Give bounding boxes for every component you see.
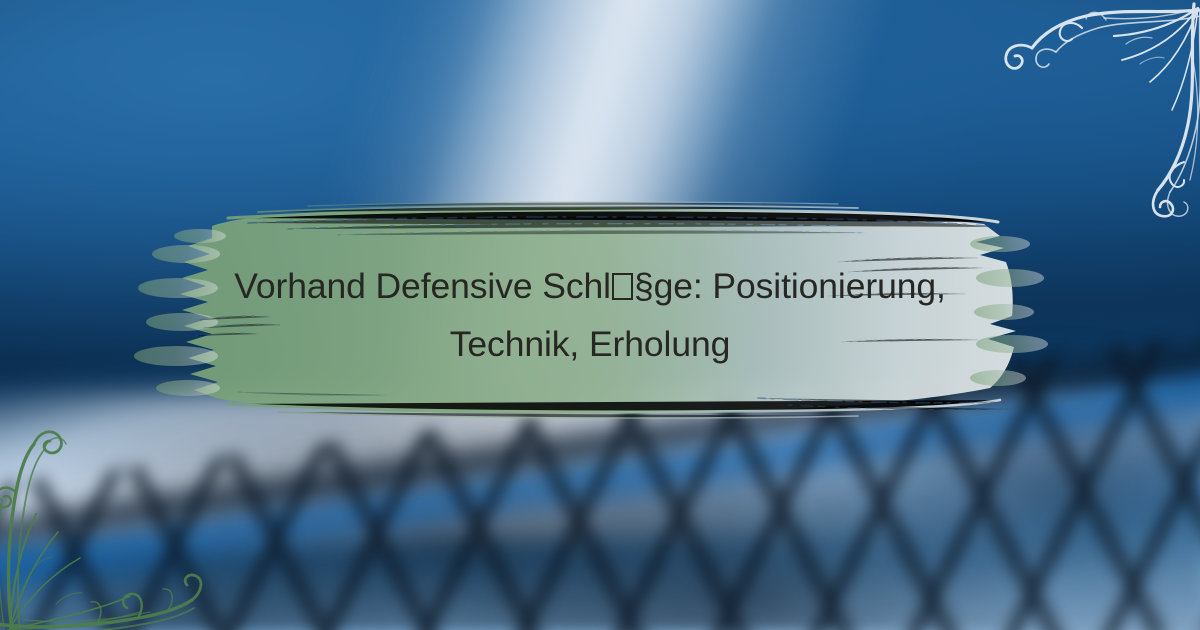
title-card: Vorhand Defensive Schl§ge: Positionierun… [0,0,1200,630]
title-line-1-prefix: Vorhand Defensive Schl [234,266,611,306]
tofu-glyph-icon [612,273,633,301]
title-line-1: Vorhand Defensive Schl§ge: Positionierun… [234,263,946,309]
title-line-1-suffix: §ge: Positionierung, [634,266,946,306]
title-line-2: Technik, Erholung [450,321,731,367]
card-title: Vorhand Defensive Schl§ge: Positionierun… [150,196,1030,434]
